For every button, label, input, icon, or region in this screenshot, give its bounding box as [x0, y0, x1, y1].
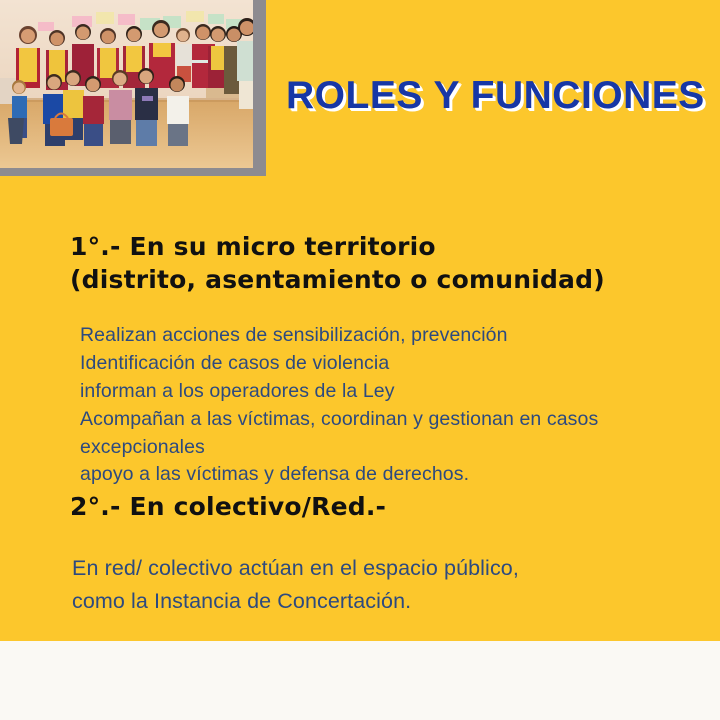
footer-bar: EMBAJADA DE ESPAÑA EN COLOMBIA aecid CEN…: [0, 641, 720, 720]
slide-canvas: ROLES Y FUNCIONES 1°.- En su micro terri…: [0, 0, 720, 720]
section-2-heading: 2°.- En colectivo/Red.-: [70, 490, 670, 523]
section-1-heading: 1°.- En su micro territorio (distrito, a…: [70, 230, 670, 296]
community-group-photo: [0, 0, 253, 168]
section-1-body: Realizan acciones de sensibilización, pr…: [80, 322, 700, 489]
page-title: ROLES Y FUNCIONES: [286, 74, 706, 118]
section-2-body: En red/ colectivo actúan en el espacio p…: [72, 552, 692, 617]
photo-frame: [0, 0, 266, 176]
